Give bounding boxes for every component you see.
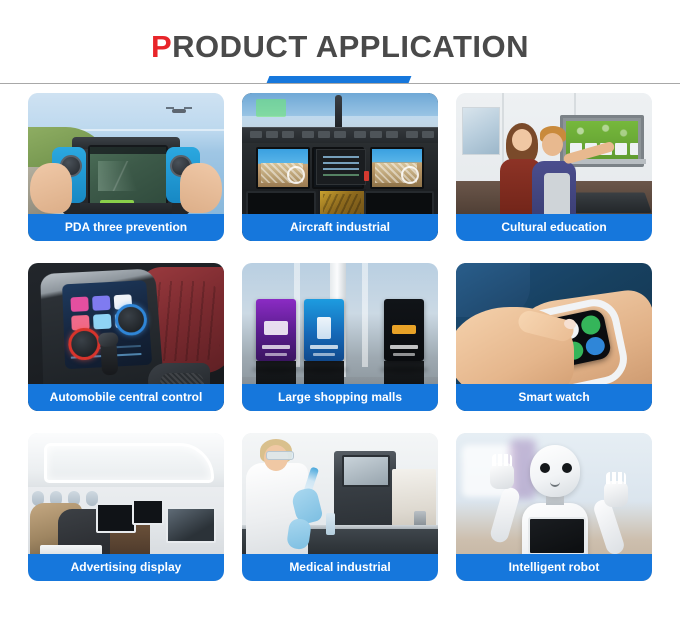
application-card-grid: PDA three prevention — [28, 82, 652, 581]
card-label: Advertising display — [28, 554, 224, 581]
divider-accent-bar — [267, 76, 412, 83]
application-card-intelligent-robot[interactable]: Intelligent robot — [456, 433, 652, 581]
application-card-smart-watch[interactable]: Smart watch — [456, 263, 652, 411]
application-card-advertising-display[interactable]: Advertising display — [28, 433, 224, 581]
card-label: Smart watch — [456, 384, 652, 411]
card-label: Automobile central control — [28, 384, 224, 411]
application-card-medical-industrial[interactable]: Medical industrial — [242, 433, 438, 581]
card-label: PDA three prevention — [28, 214, 224, 241]
card-label: Cultural education — [456, 214, 652, 241]
page-title-accent-letter: P — [151, 29, 172, 64]
application-card-aircraft-industrial[interactable]: Aircraft industrial — [242, 93, 438, 241]
page-title: PRODUCT APPLICATION — [0, 0, 680, 66]
card-label: Medical industrial — [242, 554, 438, 581]
page-title-rest: RODUCT APPLICATION — [172, 29, 529, 64]
card-label: Intelligent robot — [456, 554, 652, 581]
card-label: Aircraft industrial — [242, 214, 438, 241]
application-card-cultural-education[interactable]: Cultural education — [456, 93, 652, 241]
application-card-large-shopping-malls[interactable]: Large shopping malls — [242, 263, 438, 411]
card-label: Large shopping malls — [242, 384, 438, 411]
divider-line — [0, 83, 680, 84]
application-card-pda-three-prevention[interactable]: PDA three prevention — [28, 93, 224, 241]
page-header: PRODUCT APPLICATION — [0, 0, 680, 82]
application-card-automobile-central-control[interactable]: Automobile central control — [28, 263, 224, 411]
